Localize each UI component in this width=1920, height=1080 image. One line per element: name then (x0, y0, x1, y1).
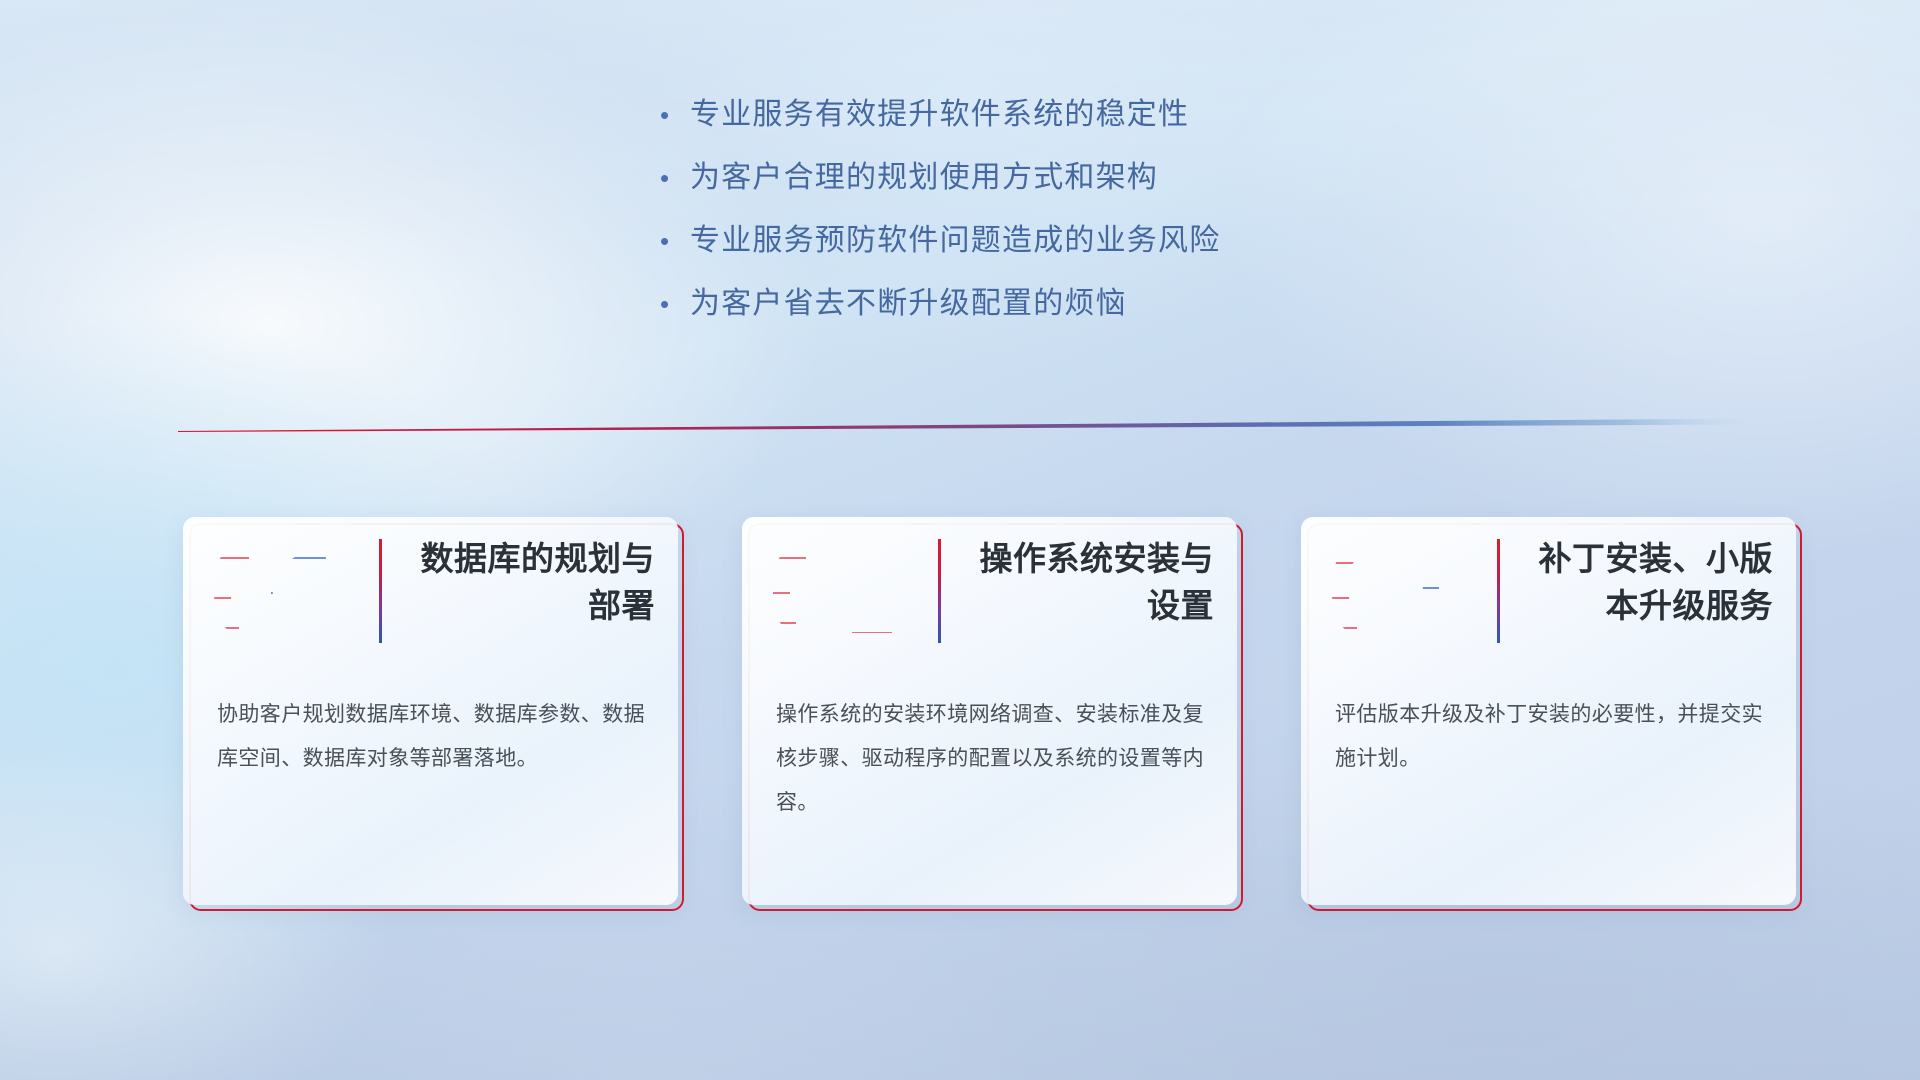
service-card-row: 01 (183, 517, 1796, 905)
bullet-text: 为客户合理的规划使用方式和架构 (690, 159, 1158, 197)
card-number-watermark: 01 (209, 541, 359, 649)
divider-shape (178, 418, 1750, 432)
bullet-item: • 专业服务有效提升软件系统的稳定性 (660, 96, 1560, 159)
bullet-dot-icon: • (660, 222, 690, 260)
card-surface: 03 (1301, 517, 1796, 905)
service-card[interactable]: 02 (742, 517, 1237, 905)
bullet-item: • 为客户省去不断升级配置的烦恼 (660, 285, 1560, 348)
bullet-item: • 专业服务预防软件问题造成的业务风险 (660, 222, 1560, 285)
bullet-item: • 为客户合理的规划使用方式和架构 (660, 159, 1560, 222)
service-card[interactable]: 01 (183, 517, 678, 905)
bullet-text: 专业服务有效提升软件系统的稳定性 (690, 96, 1189, 134)
benefits-bullet-list: • 专业服务有效提升软件系统的稳定性 • 为客户合理的规划使用方式和架构 • 专… (660, 96, 1560, 348)
card-description: 评估版本升级及补丁安装的必要性，并提交实施计划。 (1335, 693, 1766, 781)
card-surface: 01 (183, 517, 678, 905)
card-title: 补丁安装、小版本升级服务 (1523, 535, 1773, 629)
number-01-icon: 01 (209, 541, 359, 649)
card-number-watermark: 02 (768, 541, 918, 649)
card-title-rule (379, 539, 382, 643)
card-surface: 02 (742, 517, 1237, 905)
bullet-text: 为客户省去不断升级配置的烦恼 (690, 285, 1127, 323)
section-divider (178, 418, 1750, 432)
card-title-rule (1497, 539, 1500, 643)
bullet-dot-icon: • (660, 96, 690, 134)
card-description: 协助客户规划数据库环境、数据库参数、数据库空间、数据库对象等部署落地。 (217, 693, 648, 781)
number-02-icon: 02 (768, 541, 918, 649)
bullet-text: 专业服务预防软件问题造成的业务风险 (690, 222, 1220, 260)
card-header: 01 (183, 517, 678, 665)
bullet-dot-icon: • (660, 285, 690, 323)
card-description: 操作系统的安装环境网络调查、安装标准及复核步骤、驱动程序的配置以及系统的设置等内… (776, 693, 1207, 825)
card-title: 操作系统安装与设置 (964, 535, 1214, 629)
card-header: 02 (742, 517, 1237, 665)
number-03-icon: 03 (1327, 541, 1477, 649)
bullet-dot-icon: • (660, 159, 690, 197)
service-card[interactable]: 03 (1301, 517, 1796, 905)
card-number-watermark: 03 (1327, 541, 1477, 649)
card-title-rule (938, 539, 941, 643)
card-header: 03 (1301, 517, 1796, 665)
card-title: 数据库的规划与部署 (405, 535, 655, 629)
